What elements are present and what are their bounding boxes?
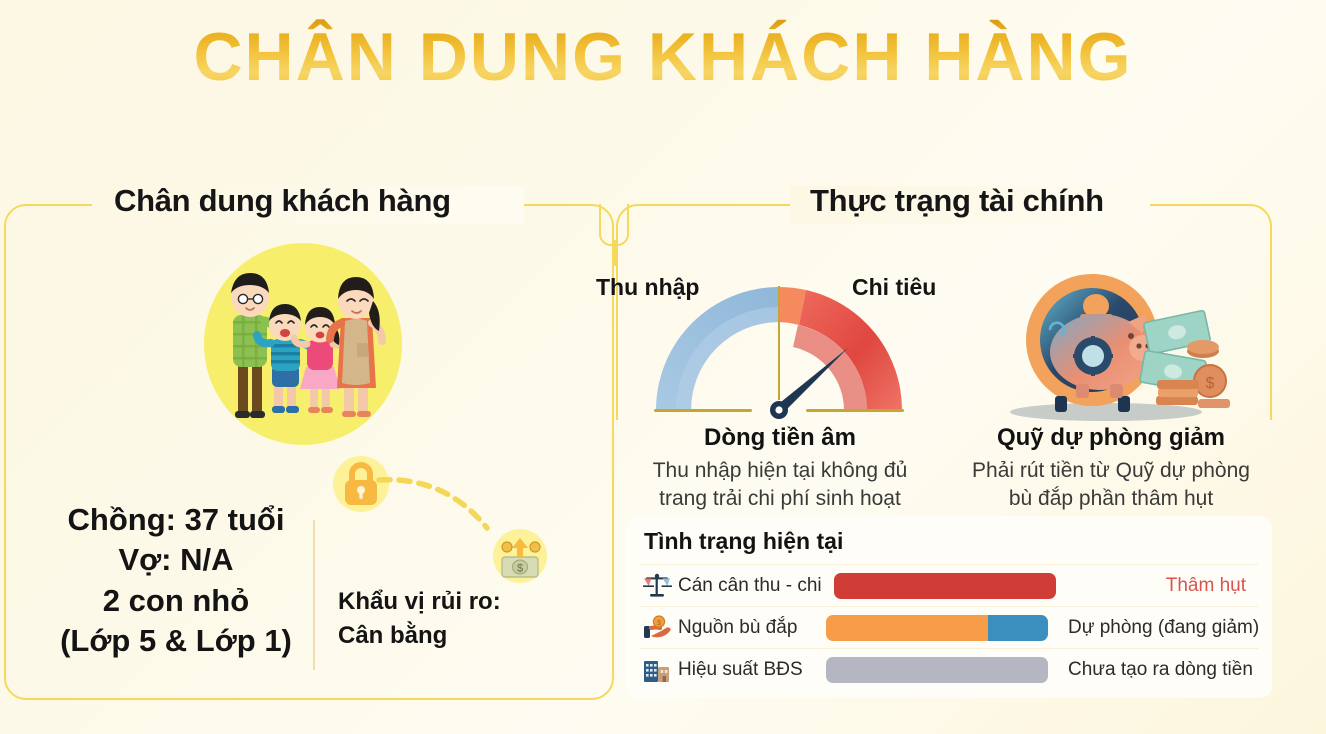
profile-line-grades: (Lớp 5 & Lớp 1) xyxy=(40,621,312,661)
reserve-sub-line-2: bù đắp phần thâm hụt xyxy=(950,485,1272,514)
hand-coin-icon: $ xyxy=(640,613,674,643)
left-panel-heading: Chân dung khách hàng xyxy=(114,183,451,219)
right-panel-heading: Thực trạng tài chính xyxy=(810,183,1104,219)
buildings-icon xyxy=(640,655,674,685)
profile-line-wife: Vợ: N/A xyxy=(40,540,312,580)
status-row-label: Cán cân thu - chi xyxy=(674,575,826,597)
cashflow-sub-line-1: Thu nhập hiện tại không đủ xyxy=(604,457,956,486)
cashflow-caption: Dòng tiền âm Thu nhập hiện tại không đủ … xyxy=(604,424,956,514)
profile-line-husband: Chồng: 37 tuổi xyxy=(40,500,312,540)
status-row-bar-cell xyxy=(826,573,1068,599)
reserve-caption-sub: Phải rút tiền từ Quỹ dự phòng bù đắp phầ… xyxy=(950,457,1272,514)
gauge-icon xyxy=(648,284,911,420)
customer-profile-text: Chồng: 37 tuổi Vợ: N/A 2 con nhỏ (Lớp 5 … xyxy=(40,500,312,661)
status-row-value: Thâm hụt xyxy=(1068,575,1258,597)
status-row-bar-cell xyxy=(826,657,1068,683)
status-row-value: Dự phòng (đang giảm) xyxy=(1068,617,1271,639)
cashflow-sub-line-2: trang trải chi phí sinh hoạt xyxy=(604,485,956,514)
status-bar-segment xyxy=(834,573,1056,599)
status-row: Cán cân thu - chiThâm hụt xyxy=(640,564,1258,606)
current-status-heading: Tình trạng hiện tại xyxy=(644,528,843,555)
status-row: Hiệu suất BĐSChưa tạo ra dòng tiền xyxy=(640,648,1258,690)
status-table: Cán cân thu - chiThâm hụt $ Nguồn bù đắp… xyxy=(640,564,1258,690)
status-row-label: Nguồn bù đắp xyxy=(674,617,826,639)
reserve-caption-title: Quỹ dự phòng giảm xyxy=(950,424,1272,453)
svg-text:$: $ xyxy=(1206,375,1215,392)
page-title: CHÂN DUNG KHÁCH HÀNG xyxy=(0,18,1326,96)
left-panel-divider xyxy=(313,520,315,670)
status-bar-segment xyxy=(988,615,1048,641)
dashed-arc-arrow xyxy=(375,462,505,542)
status-row-bar xyxy=(834,573,1056,599)
status-row-value: Chưa tạo ra dòng tiền xyxy=(1068,659,1265,681)
risk-appetite-label: Khẩu vị rủi ro: xyxy=(338,585,568,619)
reserve-caption: Quỹ dự phòng giảm Phải rút tiền từ Quỹ d… xyxy=(950,424,1272,514)
panel-connector-stem xyxy=(613,240,616,266)
status-row-bar-cell xyxy=(826,615,1068,641)
status-bar-segment xyxy=(826,615,988,641)
risk-appetite-value: Cân bằng xyxy=(338,619,568,653)
status-row-bar xyxy=(826,615,1048,641)
risk-appetite-block: Khẩu vị rủi ro: Cân bằng xyxy=(338,585,568,653)
status-row-bar xyxy=(826,657,1048,683)
family-illustration xyxy=(202,243,404,445)
balance-scale-icon xyxy=(640,571,674,601)
money-growth-icon: $ xyxy=(492,528,548,584)
piggy-bank-icon: $ xyxy=(1000,268,1232,426)
status-bar-segment xyxy=(826,657,1048,683)
svg-text:$: $ xyxy=(657,618,661,627)
current-status-card: Tình trạng hiện tại Cán cân thu - chiThâ… xyxy=(626,516,1272,698)
cashflow-caption-sub: Thu nhập hiện tại không đủ trang trải ch… xyxy=(604,457,956,514)
status-row: $ Nguồn bù đắpDự phòng (đang giảm) xyxy=(640,606,1258,648)
cashflow-caption-title: Dòng tiền âm xyxy=(604,424,956,453)
profile-line-kids: 2 con nhỏ xyxy=(40,581,312,621)
status-row-label: Hiệu suất BĐS xyxy=(674,659,826,681)
reserve-sub-line-1: Phải rút tiền từ Quỹ dự phòng xyxy=(950,457,1272,486)
svg-text:$: $ xyxy=(517,563,523,575)
